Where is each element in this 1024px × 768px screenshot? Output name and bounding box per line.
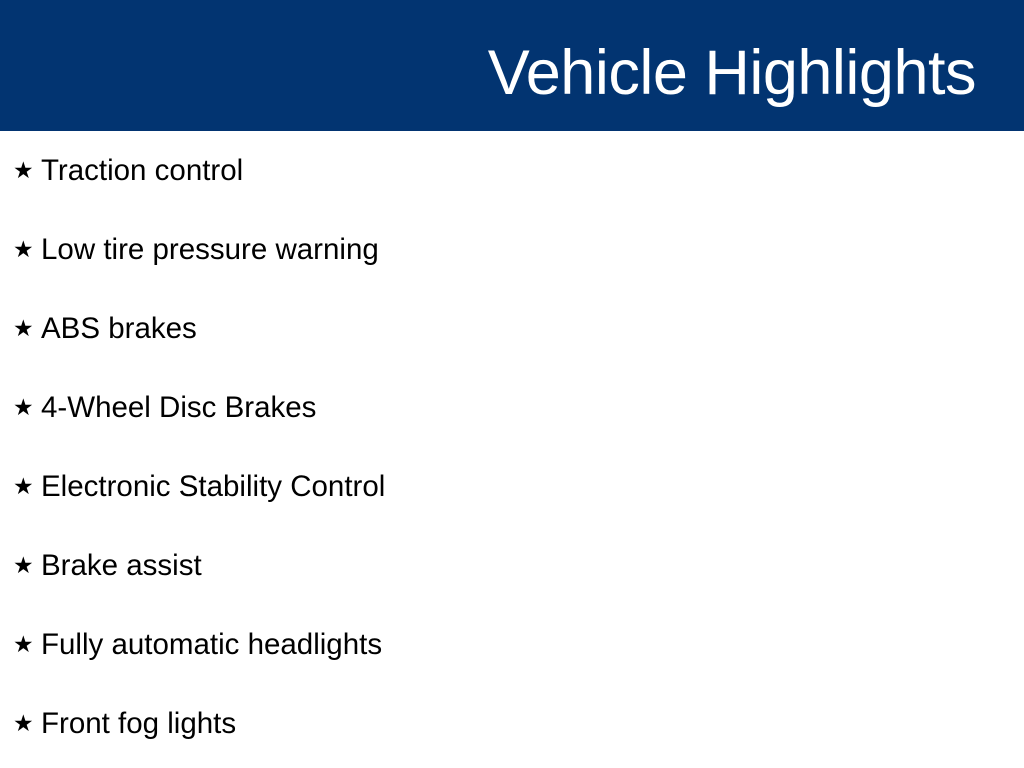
list-item: ★ Front fog lights [0,685,1024,764]
vehicle-highlights-list: ★ Traction control ★ Low tire pressure w… [0,131,1024,764]
list-item: ★ Brake assist [0,527,1024,606]
list-item-label: 4-Wheel Disc Brakes [41,392,316,424]
list-item-label: Electronic Stability Control [41,471,385,503]
star-bullet-icon: ★ [13,318,41,341]
list-item: ★ Low tire pressure warning [0,211,1024,290]
star-bullet-icon: ★ [13,397,41,420]
list-item-label: ABS brakes [41,313,197,345]
list-item: ★ 4-Wheel Disc Brakes [0,369,1024,448]
star-bullet-icon: ★ [13,239,41,262]
slide-header-band: Vehicle Highlights [0,0,1024,131]
star-bullet-icon: ★ [13,634,41,657]
list-item-label: Low tire pressure warning [41,234,379,266]
list-item: ★ ABS brakes [0,290,1024,369]
star-bullet-icon: ★ [13,713,41,736]
list-item-label: Fully automatic headlights [41,629,382,661]
list-item-label: Traction control [41,155,243,187]
list-item: ★ Traction control [0,131,1024,211]
list-item: ★ Fully automatic headlights [0,606,1024,685]
page-title: Vehicle Highlights [488,42,976,105]
star-bullet-icon: ★ [13,160,41,183]
star-bullet-icon: ★ [13,555,41,578]
vehicle-highlights-slide: Vehicle Highlights ★ Traction control ★ … [0,0,1024,768]
list-item-label: Front fog lights [41,708,236,740]
list-item: ★ Electronic Stability Control [0,448,1024,527]
list-item-label: Brake assist [41,550,202,582]
star-bullet-icon: ★ [13,476,41,499]
